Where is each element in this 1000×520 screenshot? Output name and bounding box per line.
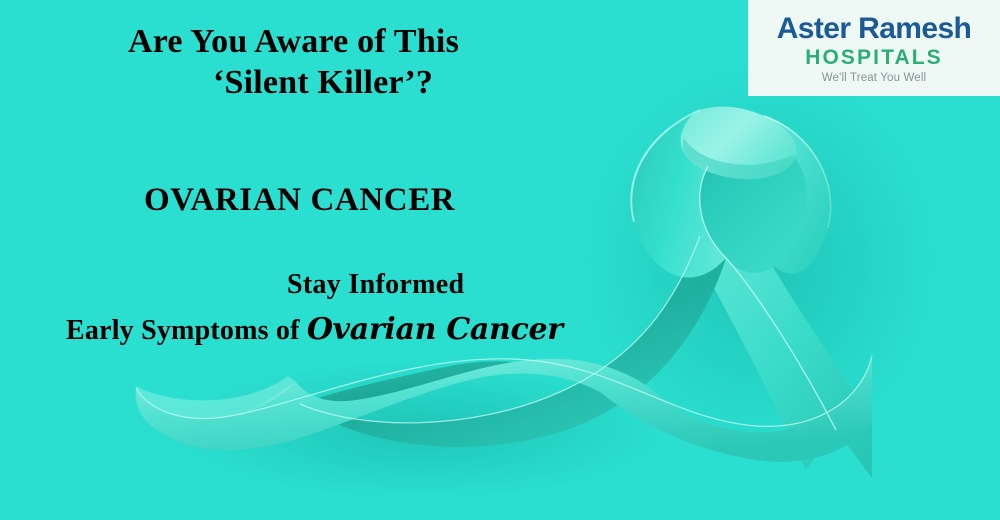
early-symptoms-script-emphasis: Ovarian Cancer xyxy=(307,312,563,347)
stay-informed-text: Stay Informed xyxy=(287,271,464,299)
early-symptoms-line: Early Symptoms of Ovarian Cancer xyxy=(66,315,563,345)
brand-subtitle: HOSPITALS xyxy=(748,47,1000,68)
early-symptoms-prefix: Early Symptoms of xyxy=(66,315,307,346)
disease-title: OVARIAN CANCER xyxy=(144,184,455,217)
headline-line-1: Are You Aware of This xyxy=(128,25,459,59)
brand-wordmark: Aster Ramesh xyxy=(748,14,1000,44)
brand-tagline: We'll Treat You Well xyxy=(748,73,1000,85)
brand-logo[interactable]: Aster Ramesh HOSPITALS We'll Treat You W… xyxy=(748,0,1000,96)
ovarian-cancer-awareness-banner: Are You Aware of This ‘Silent Killer’? O… xyxy=(0,0,1000,520)
headline-line-2: ‘Silent Killer’? xyxy=(213,66,433,100)
